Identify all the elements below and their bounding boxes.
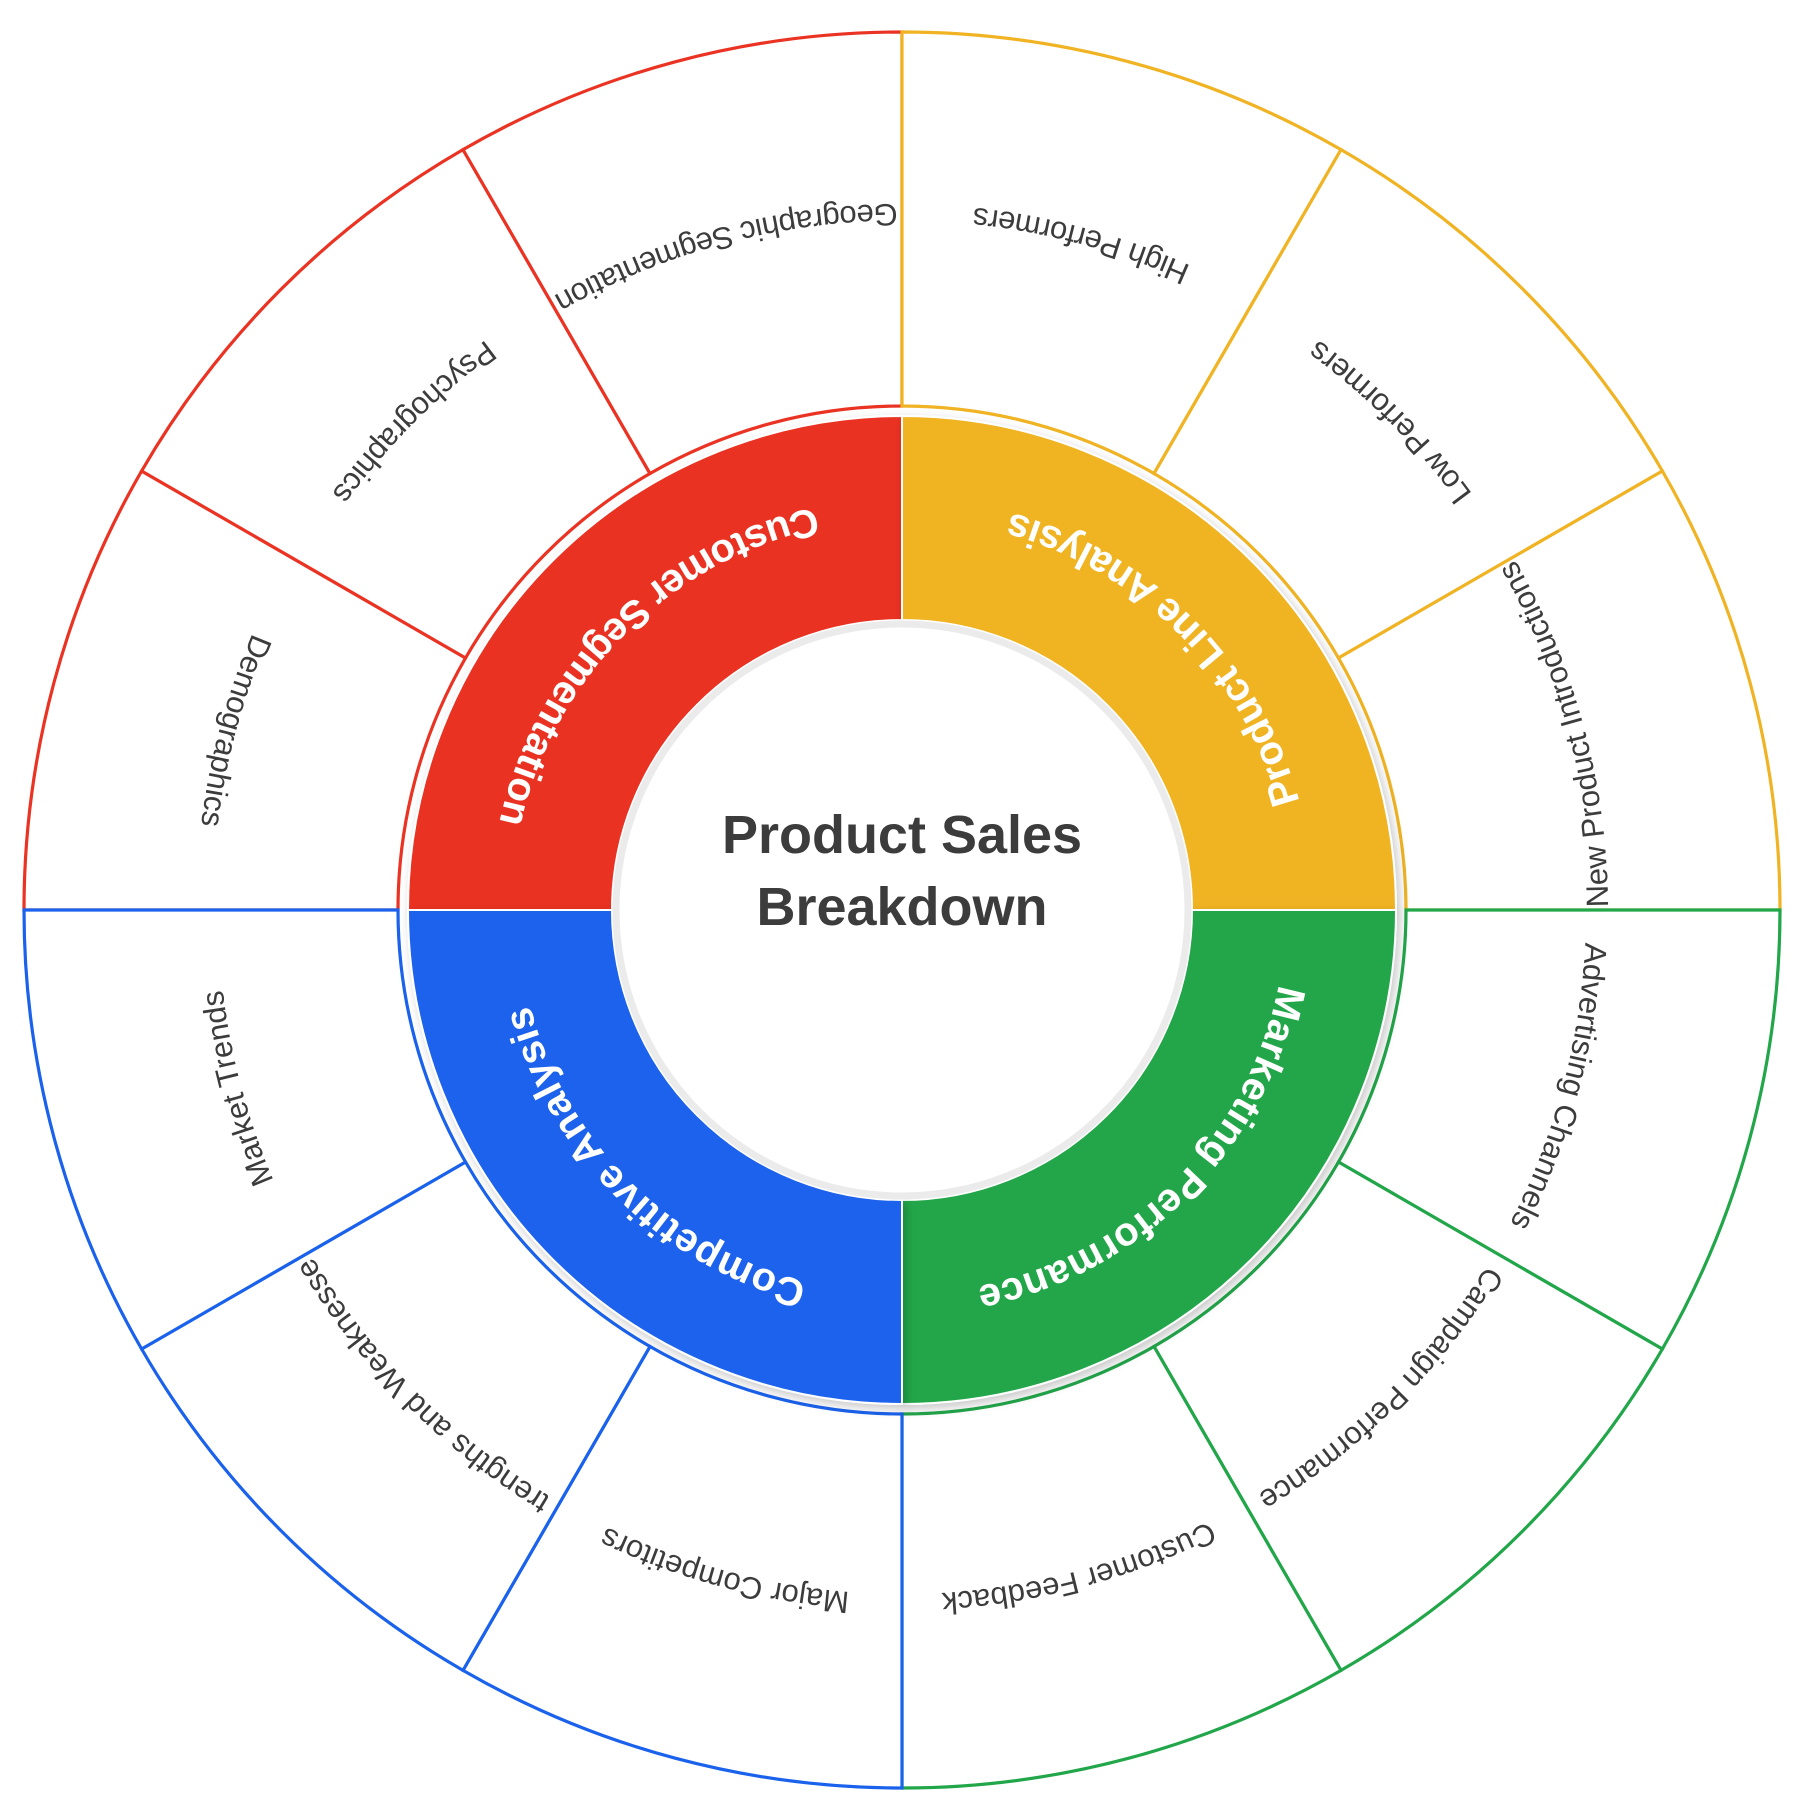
sunburst-diagram-canvas: DemographicsPsychographicsGeographic Seg… bbox=[0, 0, 1804, 1804]
page-title-line2: Breakdown bbox=[756, 877, 1047, 937]
page-title-line1: Product Sales bbox=[722, 805, 1082, 865]
sunburst-chart: DemographicsPsychographicsGeographic Seg… bbox=[0, 0, 1804, 1804]
